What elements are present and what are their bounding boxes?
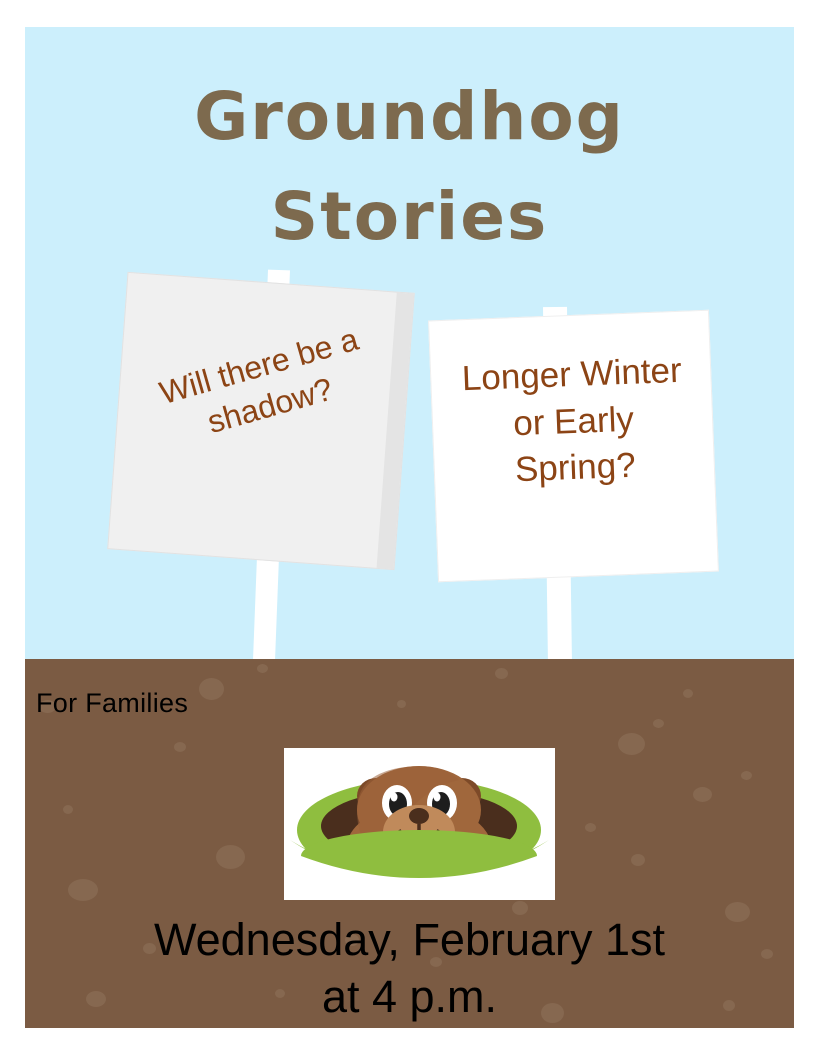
dirt-speck: [216, 845, 245, 869]
season-question-sign-text: Longer Winter or Early Spring?: [430, 347, 716, 497]
page-title: Groundhog Stories: [25, 67, 794, 268]
dirt-speck: [618, 733, 645, 755]
dirt-speck: [174, 742, 186, 752]
dirt-speck: [257, 664, 268, 673]
dirt-speck: [585, 823, 596, 832]
shadow-question-sign-text: Will there be a shadow?: [115, 308, 414, 465]
dirt-speck: [683, 689, 693, 698]
title-line-1: Groundhog: [25, 67, 794, 167]
groundhog-in-burrow-icon: [284, 748, 555, 900]
dirt-speck: [495, 668, 508, 679]
event-details: Wednesday, February 1st at 4 p.m.: [25, 911, 794, 1025]
event-time: at 4 p.m.: [25, 968, 794, 1025]
dirt-speck: [741, 771, 752, 780]
audience-label: For Families: [36, 688, 188, 719]
groundhog-image: [284, 748, 555, 900]
dirt-speck: [68, 879, 98, 901]
dirt-speck: [693, 787, 712, 802]
dirt-speck: [397, 700, 406, 708]
event-date: Wednesday, February 1st: [25, 911, 794, 968]
title-line-2: Stories: [25, 167, 794, 267]
dirt-background: For Families: [25, 659, 794, 1028]
dirt-speck: [63, 805, 73, 814]
dirt-speck: [199, 678, 224, 700]
season-question-sign: Longer Winter or Early Spring?: [428, 310, 719, 583]
season-sign-line-3: Spring?: [514, 446, 636, 490]
season-sign-line-2: or Early: [513, 399, 635, 443]
poster-canvas: Groundhog Stories Will there be a shadow…: [25, 27, 794, 1028]
dirt-speck: [631, 854, 645, 866]
dirt-speck: [653, 719, 664, 728]
shadow-question-sign: Will there be a shadow?: [107, 272, 415, 570]
season-sign-line-1: Longer Winter: [461, 351, 682, 398]
